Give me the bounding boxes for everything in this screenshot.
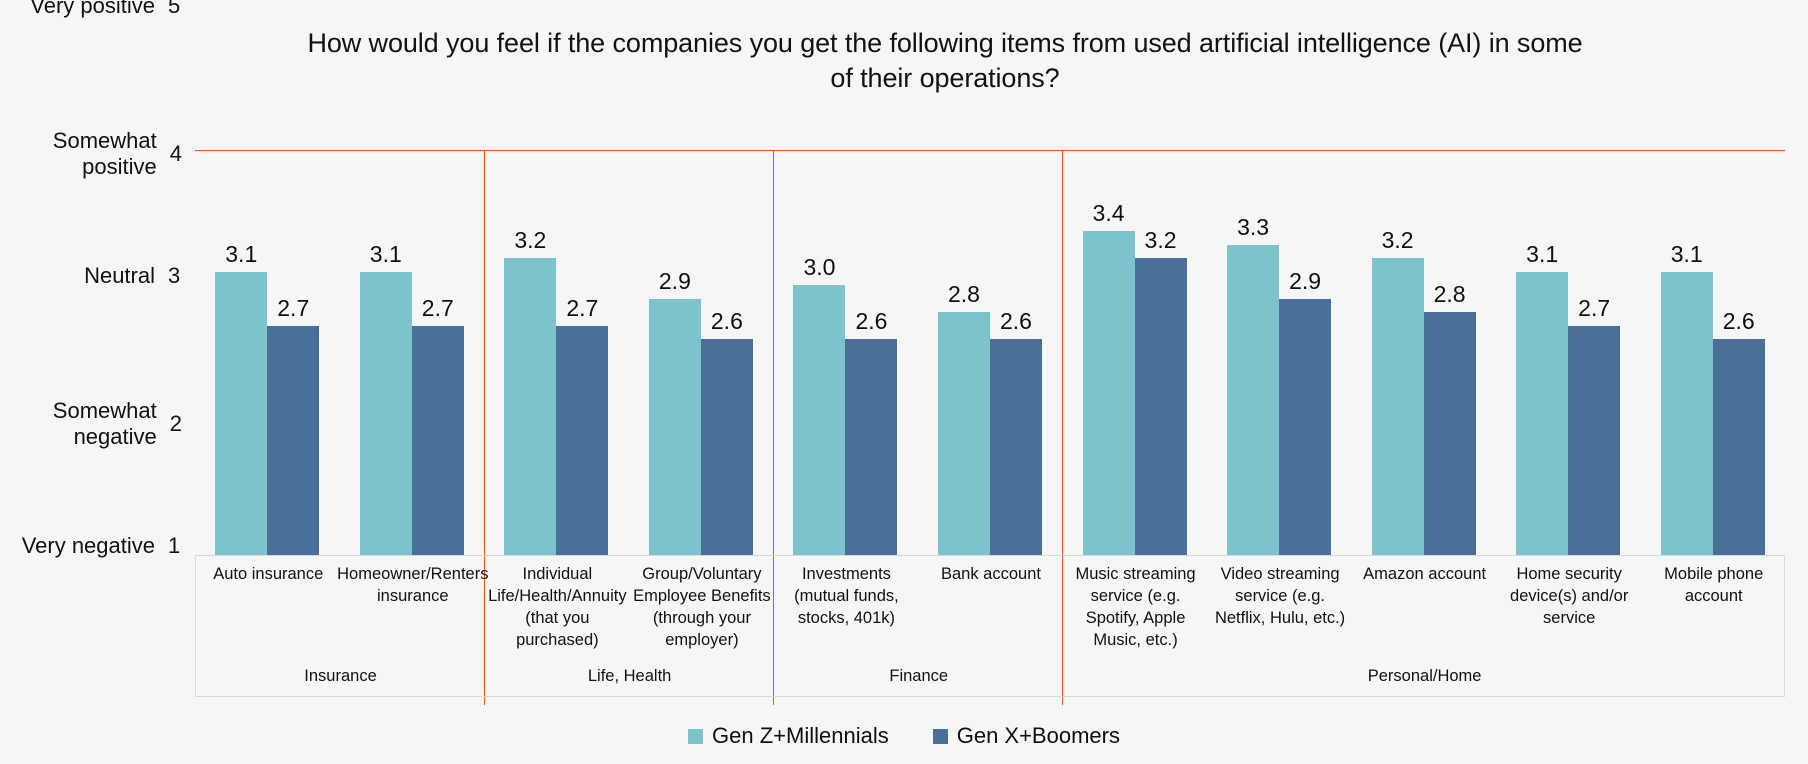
bar-value-label: 2.7 [403,295,473,322]
bar-value-label: 2.7 [1559,295,1629,322]
category-label: Home security device(s) and/or service [1497,556,1642,656]
bar-rect[interactable] [267,326,319,556]
category-label: Auto insurance [196,556,341,656]
category-label: Bank account [919,556,1064,656]
category-group: 3.22.7 [484,150,629,555]
y-axis-tick-5: Very positive5 [0,0,182,19]
bar-rect[interactable] [1424,312,1476,555]
category-label: Music streaming service (e.g. Spotify, A… [1063,556,1208,656]
bar-gen-x-boomers[interactable]: 2.6 [990,150,1042,555]
bar-gen-x-boomers[interactable]: 2.6 [845,150,897,555]
legend-swatch-icon [933,729,948,744]
chart-title: How would you feel if the companies you … [300,26,1590,95]
bar-gen-x-boomers[interactable]: 3.2 [1135,150,1187,555]
category-group: 2.82.6 [918,150,1063,555]
category-group: 3.43.2 [1062,150,1207,555]
bar-gen-x-boomers[interactable]: 2.6 [1713,150,1765,555]
category-group: 3.32.9 [1207,150,1352,555]
bar-gen-x-boomers[interactable]: 2.9 [1279,150,1331,555]
category-group: 3.02.6 [773,150,918,555]
category-label: Amazon account [1352,556,1497,656]
y-axis-tick-label: Neutral [84,263,155,289]
bar-rect[interactable] [1279,299,1331,556]
bar-rect[interactable] [990,339,1042,555]
bar-value-label: 3.0 [784,254,854,281]
y-axis-tick-value: 4 [170,141,182,167]
category-group: 2.92.6 [629,150,774,555]
bar-rect[interactable] [412,326,464,556]
category-label: Investments (mutual funds, stocks, 401k) [774,556,919,656]
bar-value-label: 2.6 [981,308,1051,335]
y-axis-tick-value: 5 [168,0,182,19]
bar-value-label: 2.9 [1270,268,1340,295]
category-label: Group/Voluntary Employee Benefits (throu… [630,556,775,656]
bar-gen-x-boomers[interactable]: 2.7 [556,150,608,555]
bar-gen-z-millennials[interactable]: 3.1 [215,150,267,555]
bar-value-label: 3.2 [1126,227,1196,254]
y-axis-tick-1: Very negative1 [0,533,182,559]
bar-gen-x-boomers[interactable]: 2.7 [267,150,319,555]
bar-value-label: 3.1 [206,241,276,268]
group-label: Finance [774,655,1063,697]
legend-swatch-icon [688,729,703,744]
bar-rect[interactable] [1568,326,1620,556]
bar-gen-z-millennials[interactable]: 3.2 [1372,150,1424,555]
y-axis-tick-2: Somewhat negative2 [0,398,182,451]
group-label: Insurance [196,655,485,697]
category-label: Individual Life/Health/Annuity (that you… [485,556,630,656]
category-label: Video streaming service (e.g. Netflix, H… [1208,556,1353,656]
category-group: 3.12.7 [195,150,340,555]
bar-gen-x-boomers[interactable]: 2.6 [701,150,753,555]
category-group: 3.12.6 [1640,150,1785,555]
bar-value-label: 3.1 [351,241,421,268]
bar-value-label: 3.1 [1507,241,1577,268]
bar-gen-x-boomers[interactable]: 2.7 [1568,150,1620,555]
bar-gen-x-boomers[interactable]: 2.8 [1424,150,1476,555]
bar-gen-z-millennials[interactable]: 3.1 [1661,150,1713,555]
bar-rect[interactable] [938,312,990,555]
legend-label: Gen X+Boomers [957,723,1120,749]
bar-gen-z-millennials[interactable]: 2.8 [938,150,990,555]
legend-label: Gen Z+Millennials [712,723,889,749]
bar-value-label: 2.8 [929,281,999,308]
legend-item[interactable]: Gen X+Boomers [933,723,1120,749]
category-label: Mobile phone account [1641,556,1786,656]
y-axis-tick-4: Somewhat positive4 [0,128,182,181]
chart-legend: Gen Z+MillennialsGen X+Boomers [0,723,1808,749]
category-group: 3.12.7 [1496,150,1641,555]
bar-rect[interactable] [701,339,753,555]
y-axis-tick-label: Somewhat positive [0,128,157,181]
bar-value-label: 2.7 [547,295,617,322]
y-axis-tick-label: Very negative [22,533,155,559]
y-axis-tick-value: 3 [168,263,182,289]
y-axis-tick-3: Neutral3 [0,263,182,289]
bar-value-label: 2.7 [258,295,328,322]
category-label-table: Auto insuranceHomeowner/Renters insuranc… [195,555,1785,655]
bar-value-label: 2.6 [1704,308,1774,335]
bar-rect[interactable] [1083,231,1135,555]
y-axis-tick-value: 1 [168,533,182,559]
bar-gen-z-millennials[interactable]: 3.4 [1083,150,1135,555]
bar-value-label: 2.9 [640,268,710,295]
y-axis-tick-label: Very positive [30,0,155,19]
bar-value-label: 2.8 [1415,281,1485,308]
bar-gen-z-millennials[interactable]: 3.1 [360,150,412,555]
bar-gen-x-boomers[interactable]: 2.7 [412,150,464,555]
y-axis-tick-label: Somewhat negative [0,398,157,451]
bar-value-label: 3.4 [1074,200,1144,227]
plot-area: 3.12.73.12.73.22.72.92.63.02.62.82.63.43… [195,150,1785,555]
group-label-table: InsuranceLife, HealthFinancePersonal/Hom… [195,655,1785,697]
bar-value-label: 3.2 [495,227,565,254]
bar-rect[interactable] [1713,339,1765,555]
bar-gen-z-millennials[interactable]: 3.1 [1516,150,1568,555]
bar-value-label: 2.6 [692,308,762,335]
bar-gen-z-millennials[interactable]: 3.3 [1227,150,1279,555]
bar-gen-z-millennials[interactable]: 2.9 [649,150,701,555]
bar-gen-z-millennials[interactable]: 3.0 [793,150,845,555]
category-group: 3.12.7 [340,150,485,555]
legend-item[interactable]: Gen Z+Millennials [688,723,889,749]
bar-value-label: 3.3 [1218,214,1288,241]
bar-value-label: 2.6 [836,308,906,335]
bar-rect[interactable] [649,299,701,556]
bar-rect[interactable] [556,326,608,556]
category-label: Homeowner/Renters insurance [341,556,486,656]
bar-rect[interactable] [845,339,897,555]
bar-value-label: 3.1 [1652,241,1722,268]
group-label: Life, Health [485,655,774,697]
bar-rect[interactable] [1135,258,1187,555]
bar-value-label: 3.2 [1363,227,1433,254]
category-group: 3.22.8 [1351,150,1496,555]
y-axis-tick-value: 2 [170,411,182,437]
group-label: Personal/Home [1063,655,1786,697]
bar-gen-z-millennials[interactable]: 3.2 [504,150,556,555]
